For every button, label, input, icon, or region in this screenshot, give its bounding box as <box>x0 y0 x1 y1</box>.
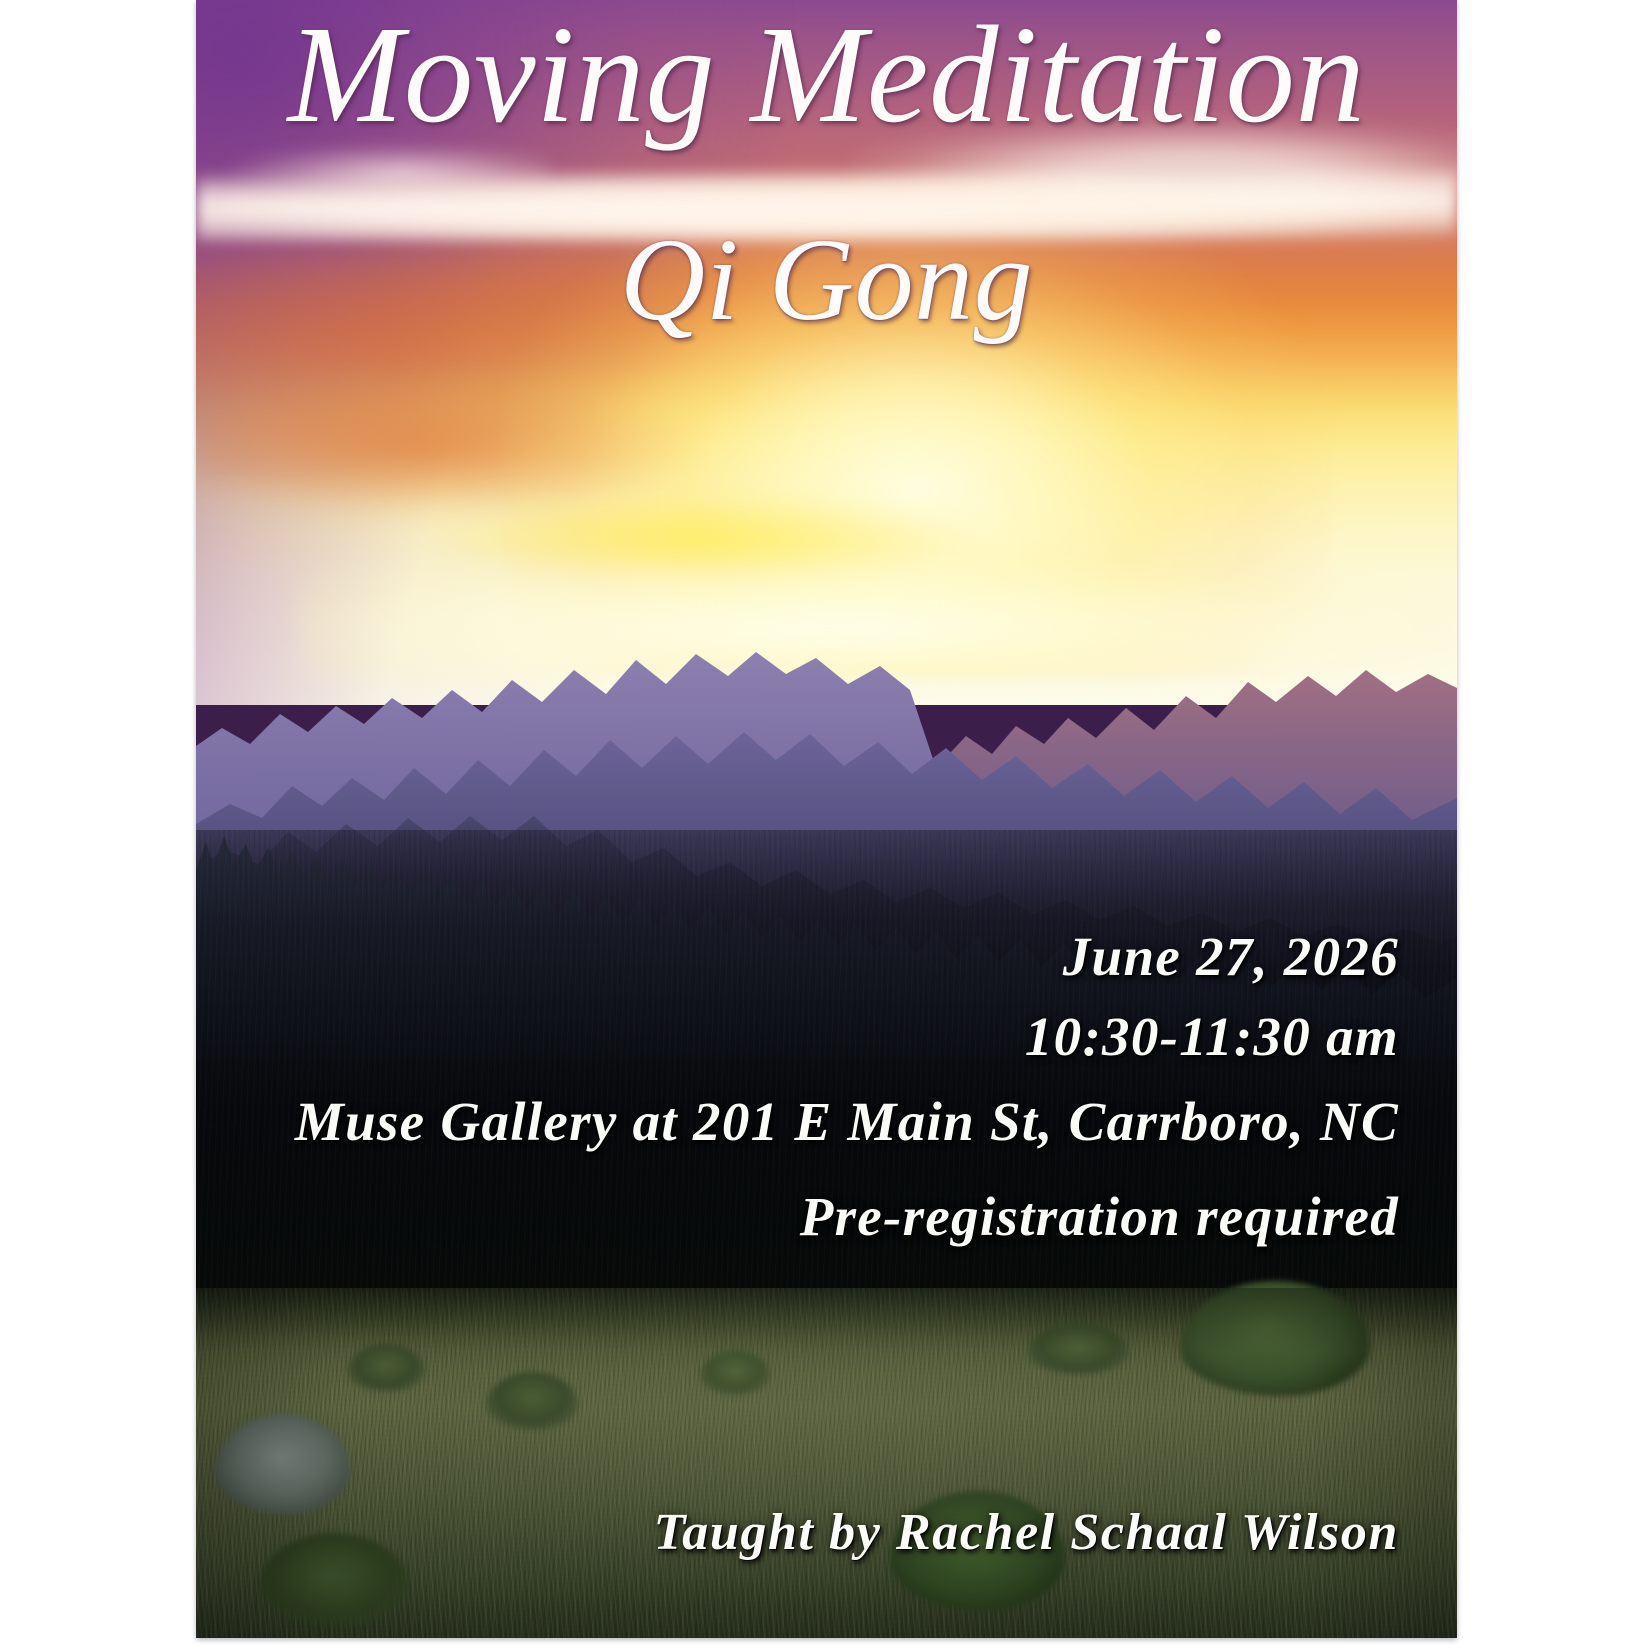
event-poster-image: Moving Meditation Qi Gong June 27, 2026 … <box>196 0 1457 1638</box>
poster-text-layer: Moving Meditation Qi Gong June 27, 2026 … <box>196 0 1457 1638</box>
event-location: Muse Gallery at 201 E Main St, Carrboro,… <box>295 1090 1399 1153</box>
poster-canvas: Moving Meditation Qi Gong June 27, 2026 … <box>0 0 1652 1652</box>
event-time: 10:30-11:30 am <box>1025 1005 1399 1068</box>
page-subtitle: Qi Gong <box>196 212 1457 348</box>
event-date: June 27, 2026 <box>1063 925 1399 988</box>
event-instructor: Taught by Rachel Schaal Wilson <box>654 1503 1399 1562</box>
registration-note: Pre-registration required <box>800 1185 1399 1248</box>
page-title: Moving Meditation <box>196 0 1457 156</box>
